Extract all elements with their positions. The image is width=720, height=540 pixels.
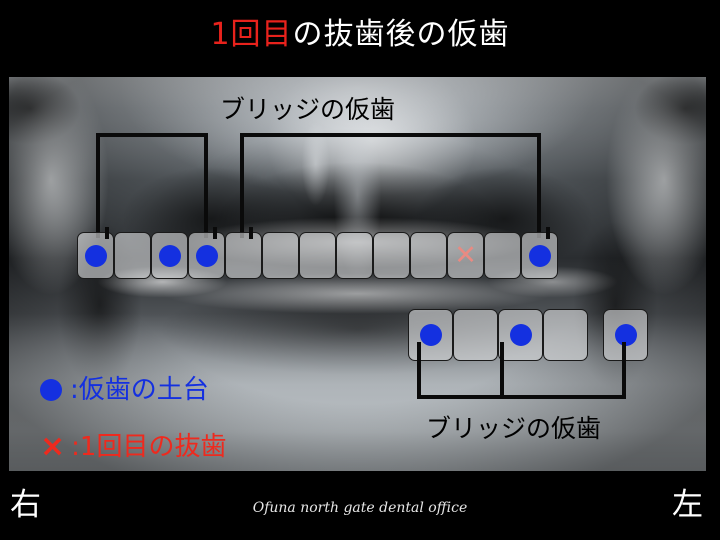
abutment-dot-icon bbox=[159, 245, 181, 267]
upper-bracket-b-top bbox=[240, 133, 541, 137]
abutment-dot-icon bbox=[196, 245, 218, 267]
bracket-stub-1 bbox=[105, 227, 109, 239]
upper-bracket-b-left bbox=[240, 133, 244, 238]
tooth-box[interactable] bbox=[484, 232, 521, 279]
extraction-cross-icon: ✕ bbox=[454, 242, 477, 269]
slide-root: 1回目の抜歯後の仮歯 ブリッジの仮歯 ✕ ブリッジの仮歯 bbox=[0, 0, 720, 540]
legend-abutment: :仮歯の土台 bbox=[36, 375, 209, 405]
tooth-box[interactable] bbox=[410, 232, 447, 279]
tooth-box[interactable]: ✕ bbox=[447, 232, 484, 279]
tooth-box[interactable] bbox=[498, 309, 543, 361]
abutment-dot-icon bbox=[529, 245, 551, 267]
tooth-box[interactable] bbox=[114, 232, 151, 279]
page-title-highlight: 1回目 bbox=[210, 17, 292, 52]
tooth-box[interactable] bbox=[373, 232, 410, 279]
panoramic-xray-image: ブリッジの仮歯 ✕ ブリッジの仮歯 :仮歯の土台 × :1回目の抜歯 bbox=[9, 77, 706, 471]
upper-bracket-a-top bbox=[96, 133, 208, 137]
cross-mark-icon: × bbox=[40, 432, 65, 462]
tooth-box[interactable] bbox=[188, 232, 225, 279]
bracket-stub-3 bbox=[249, 227, 253, 239]
tooth-box[interactable] bbox=[151, 232, 188, 279]
abutment-dot-icon bbox=[510, 324, 532, 346]
lower-bracket-left bbox=[417, 342, 421, 399]
tooth-box[interactable] bbox=[299, 232, 336, 279]
legend-abutment-text: :仮歯の土台 bbox=[70, 375, 209, 405]
tooth-box[interactable] bbox=[521, 232, 558, 279]
abutment-dot-icon bbox=[85, 245, 107, 267]
upper-bridge-callout-label: ブリッジの仮歯 bbox=[220, 95, 395, 125]
tooth-box[interactable] bbox=[225, 232, 262, 279]
lower-bridge-callout-label: ブリッジの仮歯 bbox=[426, 414, 601, 444]
upper-bracket-a-right bbox=[204, 133, 208, 238]
lower-bracket-bottom bbox=[417, 395, 626, 399]
page-title: 1回目の抜歯後の仮歯 bbox=[0, 16, 720, 54]
tooth-box[interactable] bbox=[453, 309, 498, 361]
bracket-stub-2 bbox=[213, 227, 217, 239]
tooth-box[interactable] bbox=[77, 232, 114, 279]
bracket-stub-4 bbox=[546, 227, 550, 239]
legend-extraction-text: :1回目の抜歯 bbox=[71, 432, 226, 462]
clinic-credit: Ofuna north gate dental office bbox=[0, 500, 720, 516]
legend-extraction: × :1回目の抜歯 bbox=[36, 432, 226, 462]
tooth-box[interactable] bbox=[543, 309, 588, 361]
blue-circle-icon bbox=[40, 379, 62, 401]
tooth-box[interactable] bbox=[336, 232, 373, 279]
lower-bracket-mid bbox=[500, 342, 504, 399]
page-title-rest: の抜歯後の仮歯 bbox=[293, 17, 510, 52]
abutment-dot-icon bbox=[420, 324, 442, 346]
tooth-box[interactable] bbox=[408, 309, 453, 361]
upper-bracket-a-left bbox=[96, 133, 100, 238]
tooth-box[interactable] bbox=[262, 232, 299, 279]
upper-bracket-b-right bbox=[537, 133, 541, 238]
lower-bracket-right bbox=[622, 342, 626, 399]
